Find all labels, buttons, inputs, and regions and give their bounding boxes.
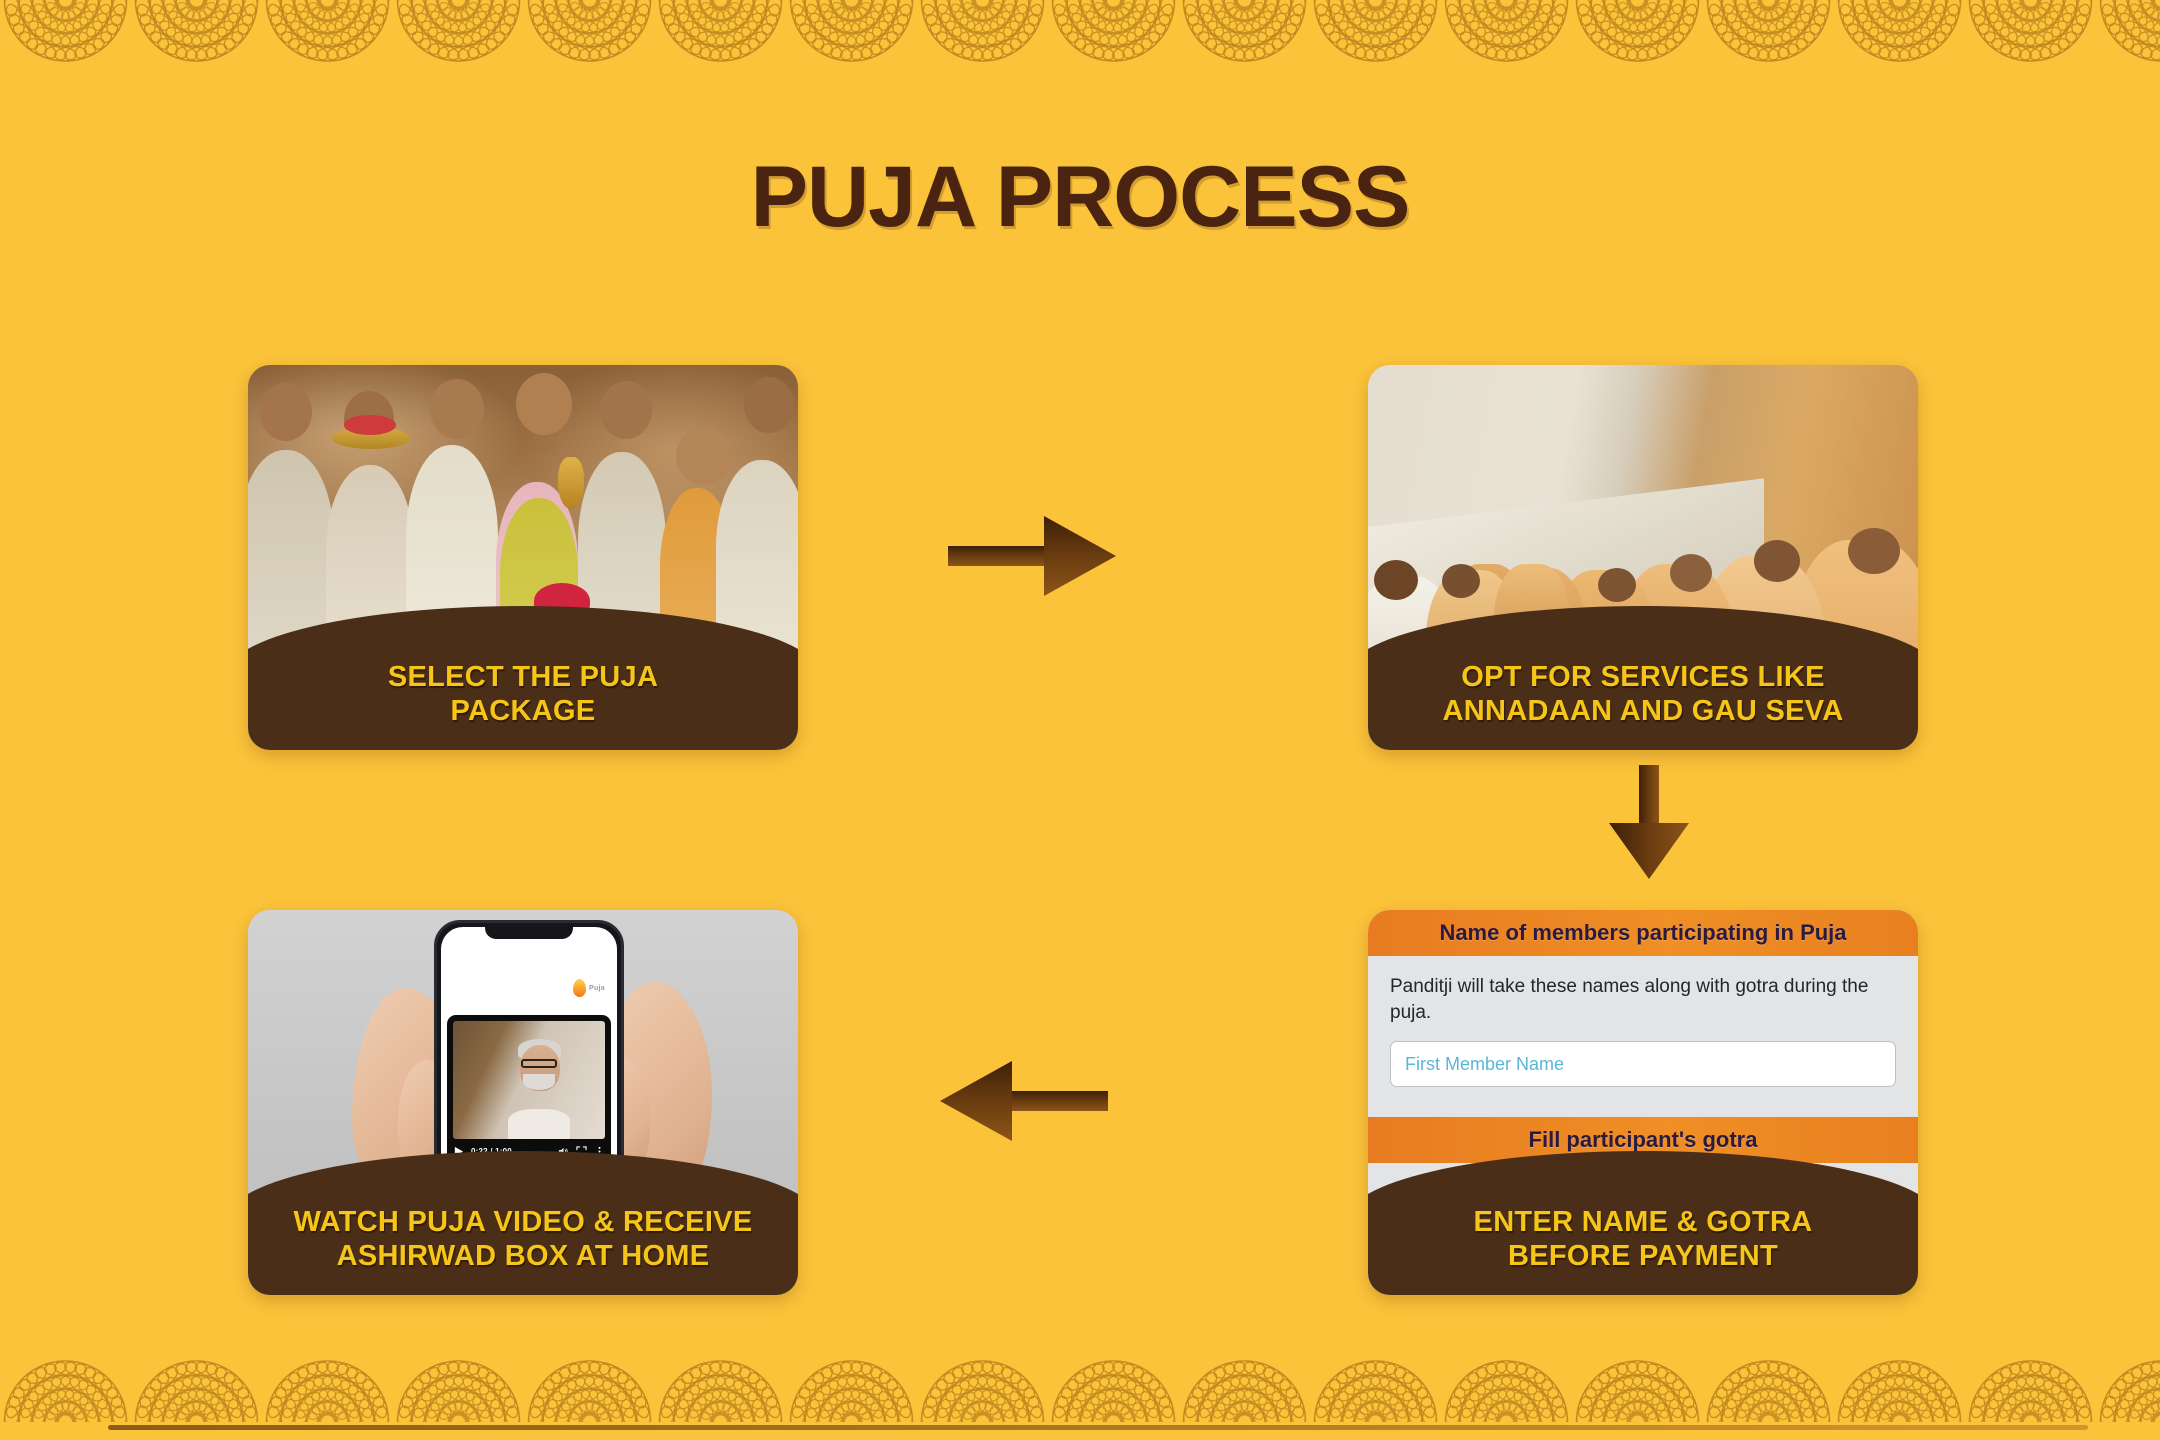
bottom-baseline-rule: [108, 1425, 2088, 1430]
mandala-motif: [1965, 0, 2096, 70]
mandala-motif: [1572, 0, 1703, 70]
mandala-motif: [1048, 1352, 1179, 1422]
mandala-motif: [0, 0, 131, 70]
mandala-motif: [786, 1352, 917, 1422]
mandala-motif: [1572, 1352, 1703, 1422]
mandala-motif: [1703, 1352, 1834, 1422]
step-card-4[interactable]: Puja: [248, 910, 798, 1295]
form-section-members-body: Panditji will take these names along wit…: [1368, 956, 1918, 1097]
first-member-name-input[interactable]: First Member Name: [1390, 1041, 1896, 1087]
step-4-caption-line-1: WATCH PUJA VIDEO & RECEIVE: [248, 1205, 798, 1239]
mandala-motif: [1834, 1352, 1965, 1422]
phone-notch: [485, 923, 573, 939]
mandala-motif: [786, 0, 917, 70]
mandala-motif: [1310, 0, 1441, 70]
step-card-1[interactable]: SELECT THE PUJA PACKAGE: [248, 365, 798, 750]
mandala-motif: [1179, 0, 1310, 70]
step-1-caption: SELECT THE PUJA PACKAGE: [248, 606, 798, 750]
mandala-motif: [655, 1352, 786, 1422]
mandala-motif: [524, 0, 655, 70]
arrow-right-icon: [948, 510, 1118, 602]
video-frame: [453, 1021, 605, 1139]
step-4-caption: WATCH PUJA VIDEO & RECEIVE ASHIRWAD BOX …: [248, 1151, 798, 1295]
mandala-motif: [393, 1352, 524, 1422]
mandala-motif: [1834, 0, 1965, 70]
mandala-motif: [0, 1352, 131, 1422]
app-brand: Puja: [573, 979, 605, 997]
mandala-motif: [262, 1352, 393, 1422]
mandala-motif: [1965, 1352, 2096, 1422]
video-player[interactable]: 0:22 / 1:00: [447, 1015, 611, 1167]
mandala-motif: [2096, 0, 2160, 70]
mandala-motif: [1441, 0, 1572, 70]
step-2-caption-line-1: OPT FOR SERVICES LIKE: [1368, 660, 1918, 694]
form-members-help-text: Panditji will take these names along wit…: [1390, 974, 1896, 1025]
mandala-motif: [917, 0, 1048, 70]
arrow-left-icon: [938, 1055, 1108, 1147]
mandala-motif: [524, 1352, 655, 1422]
arrow-down-icon: [1603, 765, 1695, 881]
step-4-caption-line-2: ASHIRWAD BOX AT HOME: [248, 1239, 798, 1273]
step-2-caption: OPT FOR SERVICES LIKE ANNADAAN AND GAU S…: [1368, 606, 1918, 750]
step-card-2[interactable]: OPT FOR SERVICES LIKE ANNADAAN AND GAU S…: [1368, 365, 1918, 750]
step-2-caption-line-2: ANNADAAN AND GAU SEVA: [1368, 694, 1918, 728]
mandala-motif: [2096, 1352, 2160, 1422]
video-subject-body: [508, 1109, 570, 1139]
mandala-motif: [1048, 0, 1179, 70]
app-brand-label: Puja: [589, 985, 605, 992]
process-flow: SELECT THE PUJA PACKAGE: [248, 365, 1918, 1295]
mandala-motif: [131, 1352, 262, 1422]
step-1-caption-line-2: PACKAGE: [248, 694, 798, 728]
mandala-motif: [131, 0, 262, 70]
mandala-motif: [1310, 1352, 1441, 1422]
video-subject-beard: [523, 1074, 555, 1090]
page-title: PUJA PROCESS: [0, 148, 2160, 247]
mandala-row-top: [0, 0, 2160, 70]
mandala-motif: [917, 1352, 1048, 1422]
mandala-motif: [262, 0, 393, 70]
top-decorative-border: [0, 0, 2160, 70]
glasses-icon: [521, 1059, 557, 1068]
mandala-motif: [1179, 1352, 1310, 1422]
flame-icon: [573, 979, 586, 997]
mandala-motif: [393, 0, 524, 70]
bottom-decorative-border: [0, 1352, 2160, 1422]
step-3-caption-line-2: BEFORE PAYMENT: [1368, 1239, 1918, 1273]
form-section-members-header: Name of members participating in Puja: [1368, 910, 1918, 956]
mandala-motif: [655, 0, 786, 70]
mandala-motif: [1441, 1352, 1572, 1422]
step-card-3[interactable]: Name of members participating in Puja Pa…: [1368, 910, 1918, 1295]
step-3-caption-line-1: ENTER NAME & GOTRA: [1368, 1205, 1918, 1239]
step-3-caption: ENTER NAME & GOTRA BEFORE PAYMENT: [1368, 1151, 1918, 1295]
step-1-caption-line-1: SELECT THE PUJA: [248, 660, 798, 694]
mandala-motif: [1703, 0, 1834, 70]
mandala-row-bottom: [0, 1352, 2160, 1422]
